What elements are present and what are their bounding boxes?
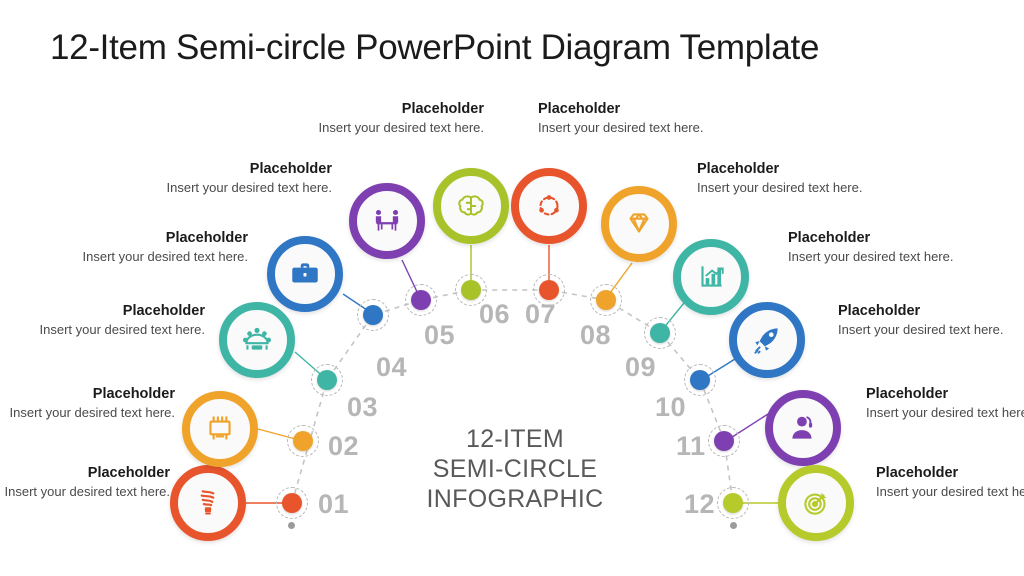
arc-dot-01[interactable] xyxy=(282,493,302,513)
lightbulb-cfl-icon xyxy=(191,486,225,520)
arc-dot-09[interactable] xyxy=(650,323,670,343)
easel-board-icon xyxy=(203,412,237,446)
step-number-09: 09 xyxy=(625,352,656,383)
label-block-07: Placeholder Insert your desired text her… xyxy=(538,101,708,136)
step-number-03: 03 xyxy=(347,392,378,423)
center-line-3: INFOGRAPHIC xyxy=(404,484,626,514)
briefcase-icon xyxy=(288,257,322,291)
node-circle-04[interactable] xyxy=(267,236,343,312)
step-number-04: 04 xyxy=(376,352,407,383)
rocket-icon xyxy=(750,323,784,357)
placeholder-body-12: Insert your desired text here. xyxy=(876,484,1024,500)
step-number-08: 08 xyxy=(580,320,611,351)
placeholder-title-05: Placeholder xyxy=(162,161,332,177)
node-circle-09[interactable] xyxy=(673,239,749,315)
step-number-10: 10 xyxy=(655,392,686,423)
node-circle-07[interactable] xyxy=(511,168,587,244)
arc-minidot-start xyxy=(288,522,295,529)
step-number-02: 02 xyxy=(328,431,359,462)
support-agent-icon xyxy=(786,411,820,445)
arc-minidot-end xyxy=(730,522,737,529)
placeholder-title-06: Placeholder xyxy=(314,101,484,117)
placeholder-title-09: Placeholder xyxy=(788,230,958,246)
arc-dot-12[interactable] xyxy=(723,493,743,513)
placeholder-body-06: Insert your desired text here. xyxy=(314,120,484,136)
placeholder-title-10: Placeholder xyxy=(838,303,1008,319)
placeholder-title-03: Placeholder xyxy=(35,303,205,319)
node-circle-10[interactable] xyxy=(729,302,805,378)
brain-icon xyxy=(454,189,488,223)
arc-dot-05[interactable] xyxy=(411,290,431,310)
placeholder-body-10: Insert your desired text here. xyxy=(838,322,1008,338)
label-block-10: Placeholder Insert your desired text her… xyxy=(838,303,1008,338)
refresh-cycle-icon xyxy=(532,189,566,223)
slide-canvas: 12-Item Semi-circle PowerPoint Diagram T… xyxy=(0,0,1024,576)
placeholder-title-07: Placeholder xyxy=(538,101,708,117)
placeholder-body-04: Insert your desired text here. xyxy=(78,249,248,265)
placeholder-title-12: Placeholder xyxy=(876,465,1024,481)
placeholder-body-07: Insert your desired text here. xyxy=(538,120,708,136)
placeholder-body-01: Insert your desired text here. xyxy=(0,484,170,500)
placeholder-title-08: Placeholder xyxy=(697,161,867,177)
negotiation-table-icon xyxy=(370,204,404,238)
step-number-05: 05 xyxy=(424,320,455,351)
label-block-12: Placeholder Insert your desired text her… xyxy=(876,465,1024,500)
placeholder-body-08: Insert your desired text here. xyxy=(697,180,867,196)
step-number-11: 11 xyxy=(676,431,706,462)
center-line-2: SEMI-CIRCLE xyxy=(404,454,626,484)
placeholder-title-04: Placeholder xyxy=(78,230,248,246)
node-circle-08[interactable] xyxy=(601,186,677,262)
node-circle-02[interactable] xyxy=(182,391,258,467)
center-line-1: 12-ITEM xyxy=(404,424,626,454)
bar-chart-growth-icon xyxy=(694,260,728,294)
target-dartboard-icon xyxy=(799,486,833,520)
arc-dot-08[interactable] xyxy=(596,290,616,310)
label-block-03: Placeholder Insert your desired text her… xyxy=(35,303,205,338)
arc-dot-07[interactable] xyxy=(539,280,559,300)
placeholder-title-02: Placeholder xyxy=(5,386,175,402)
arc-dot-04[interactable] xyxy=(363,305,383,325)
node-circle-06[interactable] xyxy=(433,168,509,244)
placeholder-body-11: Insert your desired text here. xyxy=(866,405,1024,421)
label-block-08: Placeholder Insert your desired text her… xyxy=(697,161,867,196)
step-number-06: 06 xyxy=(479,299,510,330)
node-circle-01[interactable] xyxy=(170,465,246,541)
node-circle-12[interactable] xyxy=(778,465,854,541)
arc-dot-11[interactable] xyxy=(714,431,734,451)
arc-dot-03[interactable] xyxy=(317,370,337,390)
label-block-04: Placeholder Insert your desired text her… xyxy=(78,230,248,265)
node-circle-11[interactable] xyxy=(765,390,841,466)
diamond-icon xyxy=(622,207,656,241)
label-block-06: Placeholder Insert your desired text her… xyxy=(314,101,484,136)
label-block-02: Placeholder Insert your desired text her… xyxy=(5,386,175,421)
placeholder-body-05: Insert your desired text here. xyxy=(162,180,332,196)
arc-dot-02[interactable] xyxy=(293,431,313,451)
label-block-11: Placeholder Insert your desired text her… xyxy=(866,386,1024,421)
roundtable-meeting-icon xyxy=(240,323,274,357)
placeholder-title-11: Placeholder xyxy=(866,386,1024,402)
node-circle-05[interactable] xyxy=(349,183,425,259)
node-circle-03[interactable] xyxy=(219,302,295,378)
placeholder-body-03: Insert your desired text here. xyxy=(35,322,205,338)
placeholder-body-09: Insert your desired text here. xyxy=(788,249,958,265)
step-number-07: 07 xyxy=(525,299,556,330)
arc-dot-06[interactable] xyxy=(461,280,481,300)
label-block-01: Placeholder Insert your desired text her… xyxy=(0,465,170,500)
placeholder-body-02: Insert your desired text here. xyxy=(5,405,175,421)
label-block-05: Placeholder Insert your desired text her… xyxy=(162,161,332,196)
center-caption: 12-ITEM SEMI-CIRCLE INFOGRAPHIC xyxy=(404,424,626,514)
label-block-09: Placeholder Insert your desired text her… xyxy=(788,230,958,265)
arc-dot-10[interactable] xyxy=(690,370,710,390)
step-number-01: 01 xyxy=(318,489,349,520)
placeholder-title-01: Placeholder xyxy=(0,465,170,481)
step-number-12: 12 xyxy=(684,489,715,520)
